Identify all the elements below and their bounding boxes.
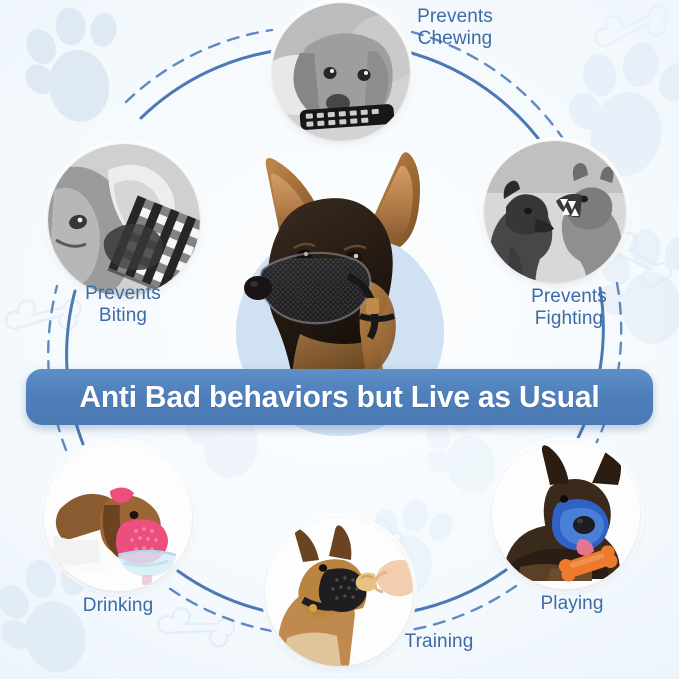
photo-two-dogs-fighting <box>484 141 626 283</box>
main-headline-banner: Anti Bad behaviors but Live as Usual <box>26 369 653 425</box>
product-infographic-poster: Prevents Chewing <box>0 0 679 679</box>
hero-dog-with-muzzle <box>244 148 440 376</box>
feature-label-prevents-biting: Prevents Biting <box>57 283 189 327</box>
feature-label-training: Training <box>373 631 505 653</box>
feature-circle-playing[interactable] <box>492 441 640 589</box>
feature-label-prevents-fighting: Prevents Fighting <box>503 286 635 330</box>
feature-circle-drinking[interactable] <box>44 443 192 591</box>
feature-label-drinking: Drinking <box>52 595 184 617</box>
feature-circle-prevents-biting[interactable] <box>48 144 200 296</box>
feature-circle-prevents-fighting[interactable] <box>484 141 626 283</box>
photo-dog-playing-with-toy <box>492 441 640 589</box>
photo-beagle-drinking-water <box>44 443 192 591</box>
headline-text: Anti Bad behaviors but Live as Usual <box>79 379 599 415</box>
feature-label-prevents-chewing: Prevents Chewing <box>389 6 521 50</box>
feature-label-playing: Playing <box>506 593 638 615</box>
photo-dog-biting-hand <box>48 144 200 296</box>
